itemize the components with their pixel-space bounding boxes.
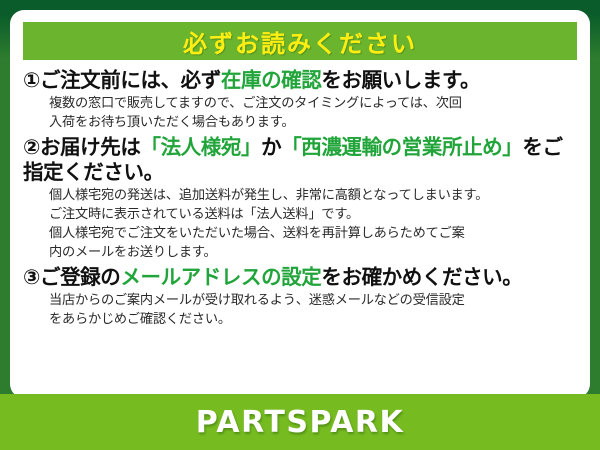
notice-item-2-heading-mid: か: [261, 135, 281, 159]
brand-logo: PARTSPARK: [196, 405, 405, 440]
notice-item-3-heading-post: をお確かめください。: [321, 265, 522, 289]
footer-band: PARTSPARK: [0, 394, 600, 450]
notice-item-3-heading: ③ご登録のメールアドレスの設定をお確かめください。: [23, 265, 577, 290]
notice-banner: 必ずお読みください ①ご注文前には、必ず在庫の確認をお願いします。 複数の窓口で…: [0, 0, 600, 450]
notice-item-1-body-line-2: 入荷をお待ち頂いただく場合もあります。: [49, 114, 577, 133]
notice-item-1-heading-post: をお願いします。: [321, 68, 480, 92]
notice-item-3-body-line-2: をあらかじめご確認ください。: [49, 311, 577, 330]
notice-item-2-heading-pre: お届け先は: [40, 135, 141, 159]
notice-item-2-body-line-3: 個人様宅宛でご注文をいただいた場合、送料を再計算しあらためてご案: [49, 225, 577, 244]
notice-item-1-heading-highlight: 在庫の確認: [221, 68, 322, 92]
notice-item-3-body-line-1: 当店からのご案内メールが受け取れるよう、迷惑メールなどの受信設定: [49, 292, 577, 311]
notice-panel: 必ずお読みください ①ご注文前には、必ず在庫の確認をお願いします。 複数の窓口で…: [10, 10, 590, 398]
notice-item-3-marker: ③: [23, 265, 40, 289]
notice-item-1-heading-pre: ご注文前には、必ず: [40, 68, 221, 92]
notice-item-1-body-line-1: 複数の窓口で販売してますので、ご注文のタイミングによっては、次回: [49, 95, 577, 114]
notice-item-3-heading-pre: ご登録の: [40, 265, 120, 289]
notice-item-2-body-line-1: 個人様宅宛の発送は、追加送料が発生し、非常に高額となってしまいます。: [49, 187, 577, 206]
notice-item-2-heading-highlight-2: 「西濃運輸の営業所止め」: [281, 135, 522, 159]
notice-item-1: ①ご注文前には、必ず在庫の確認をお願いします。 複数の窓口で販売してますので、ご…: [23, 68, 577, 132]
notice-item-3-body: 当店からのご案内メールが受け取れるよう、迷惑メールなどの受信設定 をあらかじめご…: [49, 292, 577, 329]
notice-item-1-heading: ①ご注文前には、必ず在庫の確認をお願いします。: [23, 68, 577, 93]
page-title: 必ずお読みください: [183, 24, 417, 59]
notice-item-2-marker: ②: [23, 135, 40, 159]
title-bar: 必ずお読みください: [23, 22, 577, 60]
notice-item-2-body: 個人様宅宛の発送は、追加送料が発生し、非常に高額となってしまいます。 ご注文時に…: [49, 187, 577, 262]
notice-item-3: ③ご登録のメールアドレスの設定をお確かめください。 当店からのご案内メールが受け…: [23, 265, 577, 329]
notice-item-1-marker: ①: [23, 68, 40, 92]
notice-item-2-body-line-2: ご注文時に表示されている送料は「法人送料」です。: [49, 206, 577, 225]
notice-item-2-heading: ②お届け先は「法人様宛」か「西濃運輸の営業所止め」をご指定ください。: [23, 135, 577, 185]
notice-item-3-heading-highlight: メールアドレスの設定: [120, 265, 321, 289]
notice-item-2-heading-highlight: 「法人様宛」: [140, 135, 261, 159]
notice-item-1-body: 複数の窓口で販売してますので、ご注文のタイミングによっては、次回 入荷をお待ち頂…: [49, 95, 577, 132]
notice-item-2-body-line-4: 内のメールをお送りします。: [49, 244, 577, 263]
notice-item-2: ②お届け先は「法人様宛」か「西濃運輸の営業所止め」をご指定ください。 個人様宅宛…: [23, 135, 577, 262]
